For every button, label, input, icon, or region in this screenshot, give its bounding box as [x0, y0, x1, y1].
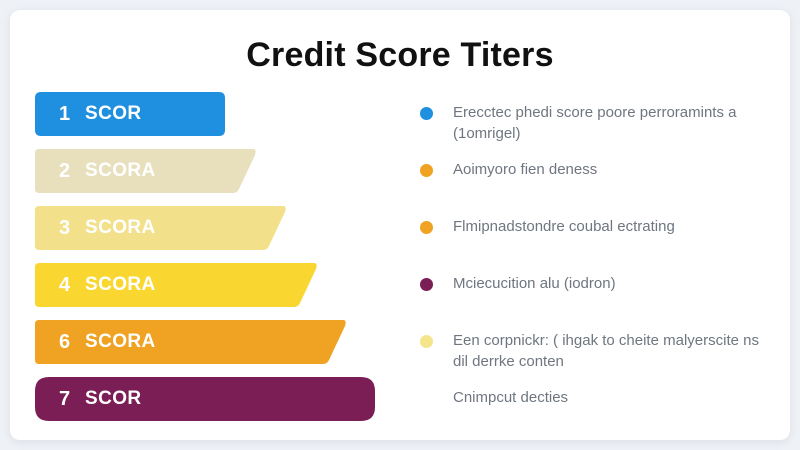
funnel-tier[interactable]: 4SCORA [35, 263, 318, 307]
funnel-tier[interactable]: 7SCOR [35, 377, 375, 421]
legend-item-label: Een corpnickr: ( ihgak to cheite malyers… [453, 330, 770, 373]
legend-item[interactable]: Aoimyoro fien deness [420, 159, 770, 206]
legend-item-label: Cnimpcut decties [453, 387, 770, 408]
funnel-tier-label: SCORA [85, 331, 156, 353]
funnel-tier-label: SCOR [85, 388, 142, 410]
funnel-tier-rank: 7 [59, 388, 85, 411]
funnel-tier-label: SCORA [85, 274, 156, 296]
legend-dot-icon [420, 278, 433, 291]
funnel-tier-rank: 3 [59, 217, 85, 240]
legend-item[interactable]: Erecctec phedi score poore perroramints … [420, 102, 770, 149]
page-title: Credit Score Titers [10, 36, 790, 75]
legend-item-label: Erecctec phedi score poore perroramints … [453, 102, 770, 145]
legend-item-label: Aoimyoro fien deness [453, 159, 770, 180]
legend-item[interactable]: Flmipnadstondre coubal ectrating [420, 216, 770, 263]
funnel-tier-label: SCORA [85, 217, 156, 239]
funnel-tier-label: SCORA [85, 160, 156, 182]
legend-dot-icon [420, 392, 433, 405]
funnel-tier-rank: 6 [59, 331, 85, 354]
legend-dot-icon [420, 107, 433, 120]
legend: Erecctec phedi score poore perroramints … [420, 102, 770, 440]
legend-item[interactable]: Mciecucition alu (iodron) [420, 273, 770, 320]
funnel-tier-rank: 2 [59, 160, 85, 183]
diagram-card: Credit Score Titers 1SCOR2SCORA3SCORA4SC… [10, 10, 790, 440]
funnel-tier-rank: 4 [59, 274, 85, 297]
legend-item-label: Mciecucition alu (iodron) [453, 273, 770, 294]
funnel-tier[interactable]: 3SCORA [35, 206, 287, 250]
legend-dot-icon [420, 335, 433, 348]
funnel-tier-rank: 1 [59, 103, 85, 126]
funnel-tier[interactable]: 2SCORA [35, 149, 257, 193]
legend-item[interactable]: Een corpnickr: ( ihgak to cheite malyers… [420, 330, 770, 377]
credit-score-tier-funnel: 1SCOR2SCORA3SCORA4SCORA6SCORA7SCOR [35, 92, 380, 422]
legend-dot-icon [420, 221, 433, 234]
funnel-tier-label: SCOR [85, 103, 142, 125]
legend-item[interactable]: Cnimpcut decties [420, 387, 770, 434]
funnel-tier[interactable]: 6SCORA [35, 320, 347, 364]
legend-dot-icon [420, 164, 433, 177]
legend-item-label: Flmipnadstondre coubal ectrating [453, 216, 770, 237]
funnel-tier[interactable]: 1SCOR [35, 92, 225, 136]
